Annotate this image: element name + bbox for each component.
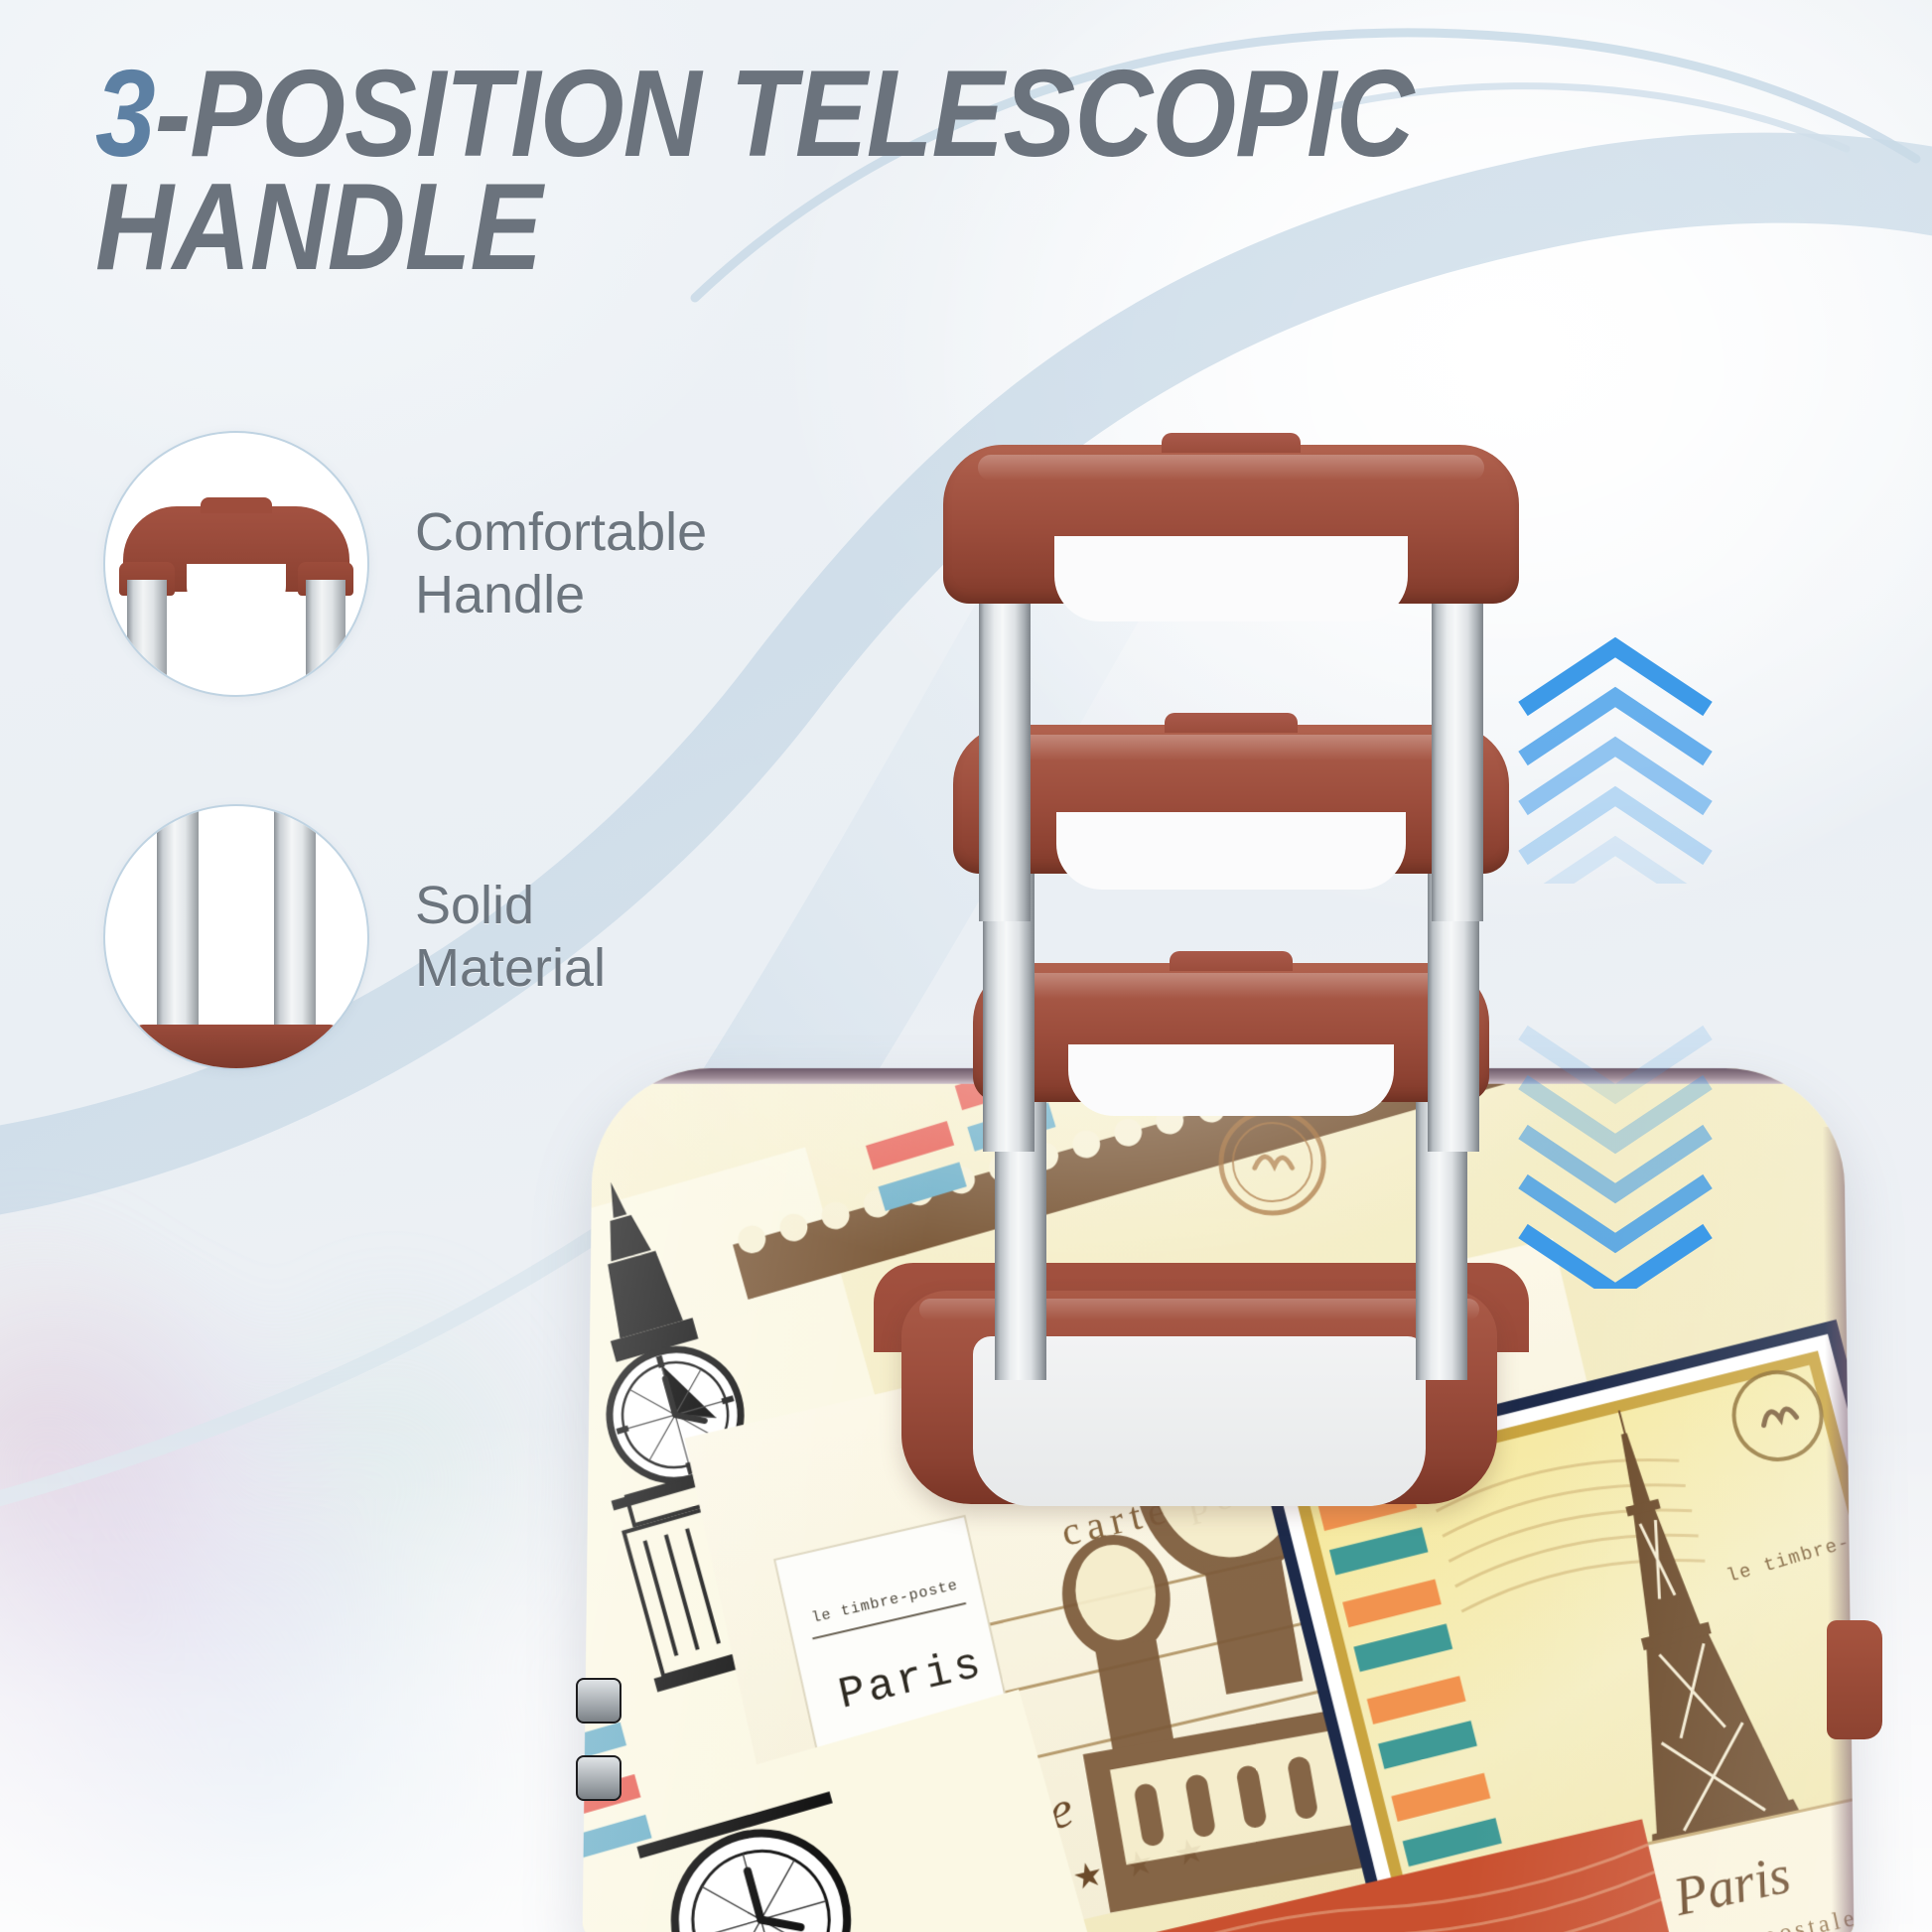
headline-line-1: 3-POSITION TELESCOPIC — [95, 58, 1318, 171]
handle-tube-left-1 — [979, 584, 1031, 921]
promo-banner: 3-POSITION TELESCOPIC HANDLE — [0, 0, 1932, 1932]
page-title: 3-POSITION TELESCOPIC HANDLE — [95, 58, 1318, 284]
callout-comfortable-handle[interactable]: Comfortable Handle — [103, 431, 707, 697]
handle-closeup-icon — [103, 431, 369, 697]
handle-tube-right-1 — [1432, 584, 1483, 921]
handle-stage-1 — [943, 445, 1519, 911]
suitcase-side-nub — [1827, 1620, 1882, 1739]
callout-label-comfortable-handle: Comfortable Handle — [415, 501, 707, 625]
tsa-lock-icon — [576, 1678, 621, 1825]
chevron-down-stack — [1511, 1021, 1720, 1294]
telescopic-tube-closeup-icon — [103, 804, 369, 1070]
chevron-up-icon-group — [1511, 635, 1720, 884]
handle-grip-opening — [1054, 536, 1408, 621]
callout-solid-material[interactable]: Solid Material — [103, 804, 606, 1070]
callout-label-solid-material: Solid Material — [415, 875, 606, 999]
chevron-up-stack — [1511, 635, 1720, 889]
headline-line-2: HANDLE — [95, 171, 1318, 284]
chevron-down-icon-group — [1511, 1021, 1720, 1289]
